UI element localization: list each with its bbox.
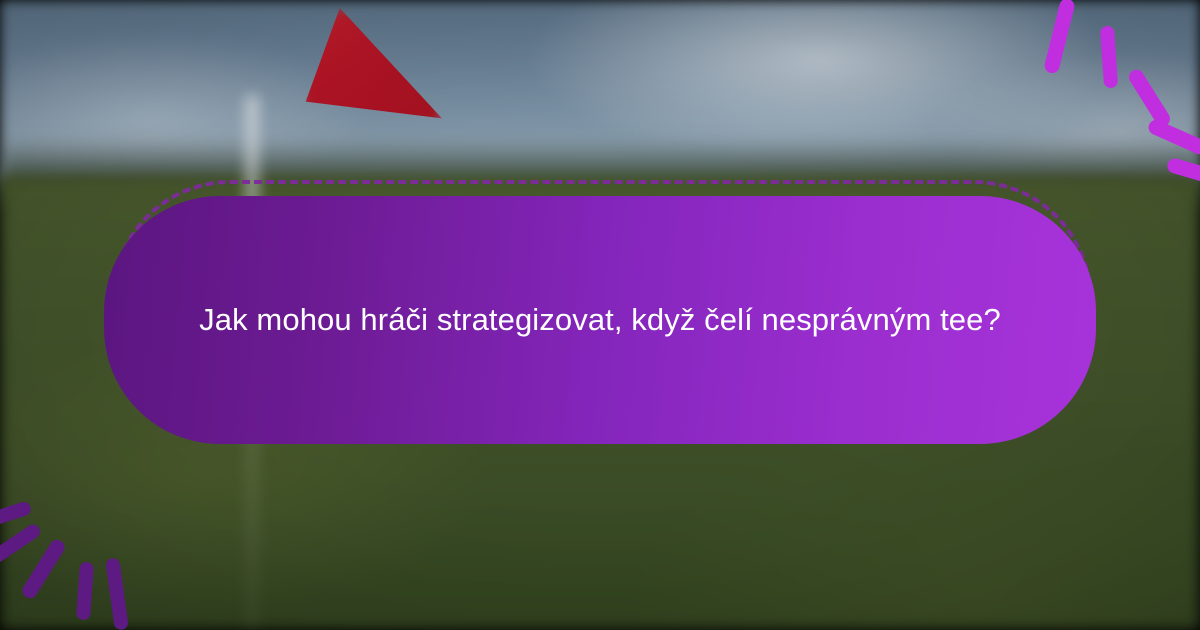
burst-stroke-1 [1043, 0, 1076, 75]
burst-stroke-3 [1126, 67, 1173, 129]
burst-stroke-2 [0, 522, 43, 568]
burst-stroke-5 [105, 557, 129, 630]
burst-stroke-3 [20, 537, 68, 601]
question-text: Jak mohou hráči strategizovat, když čelí… [104, 196, 1096, 444]
burst-sparkle-bottom-left-icon [0, 470, 170, 630]
card-body: Jak mohou hráči strategizovat, když čelí… [104, 196, 1096, 444]
burst-sparkle-top-right-icon [1030, 0, 1200, 164]
quote-card-image: Jak mohou hráči strategizovat, když čelí… [0, 0, 1200, 630]
burst-stroke-4 [1146, 118, 1200, 157]
burst-stroke-2 [1100, 26, 1118, 89]
burst-stroke-4 [76, 562, 94, 621]
quote-card: Jak mohou hráči strategizovat, když čelí… [104, 186, 1096, 448]
